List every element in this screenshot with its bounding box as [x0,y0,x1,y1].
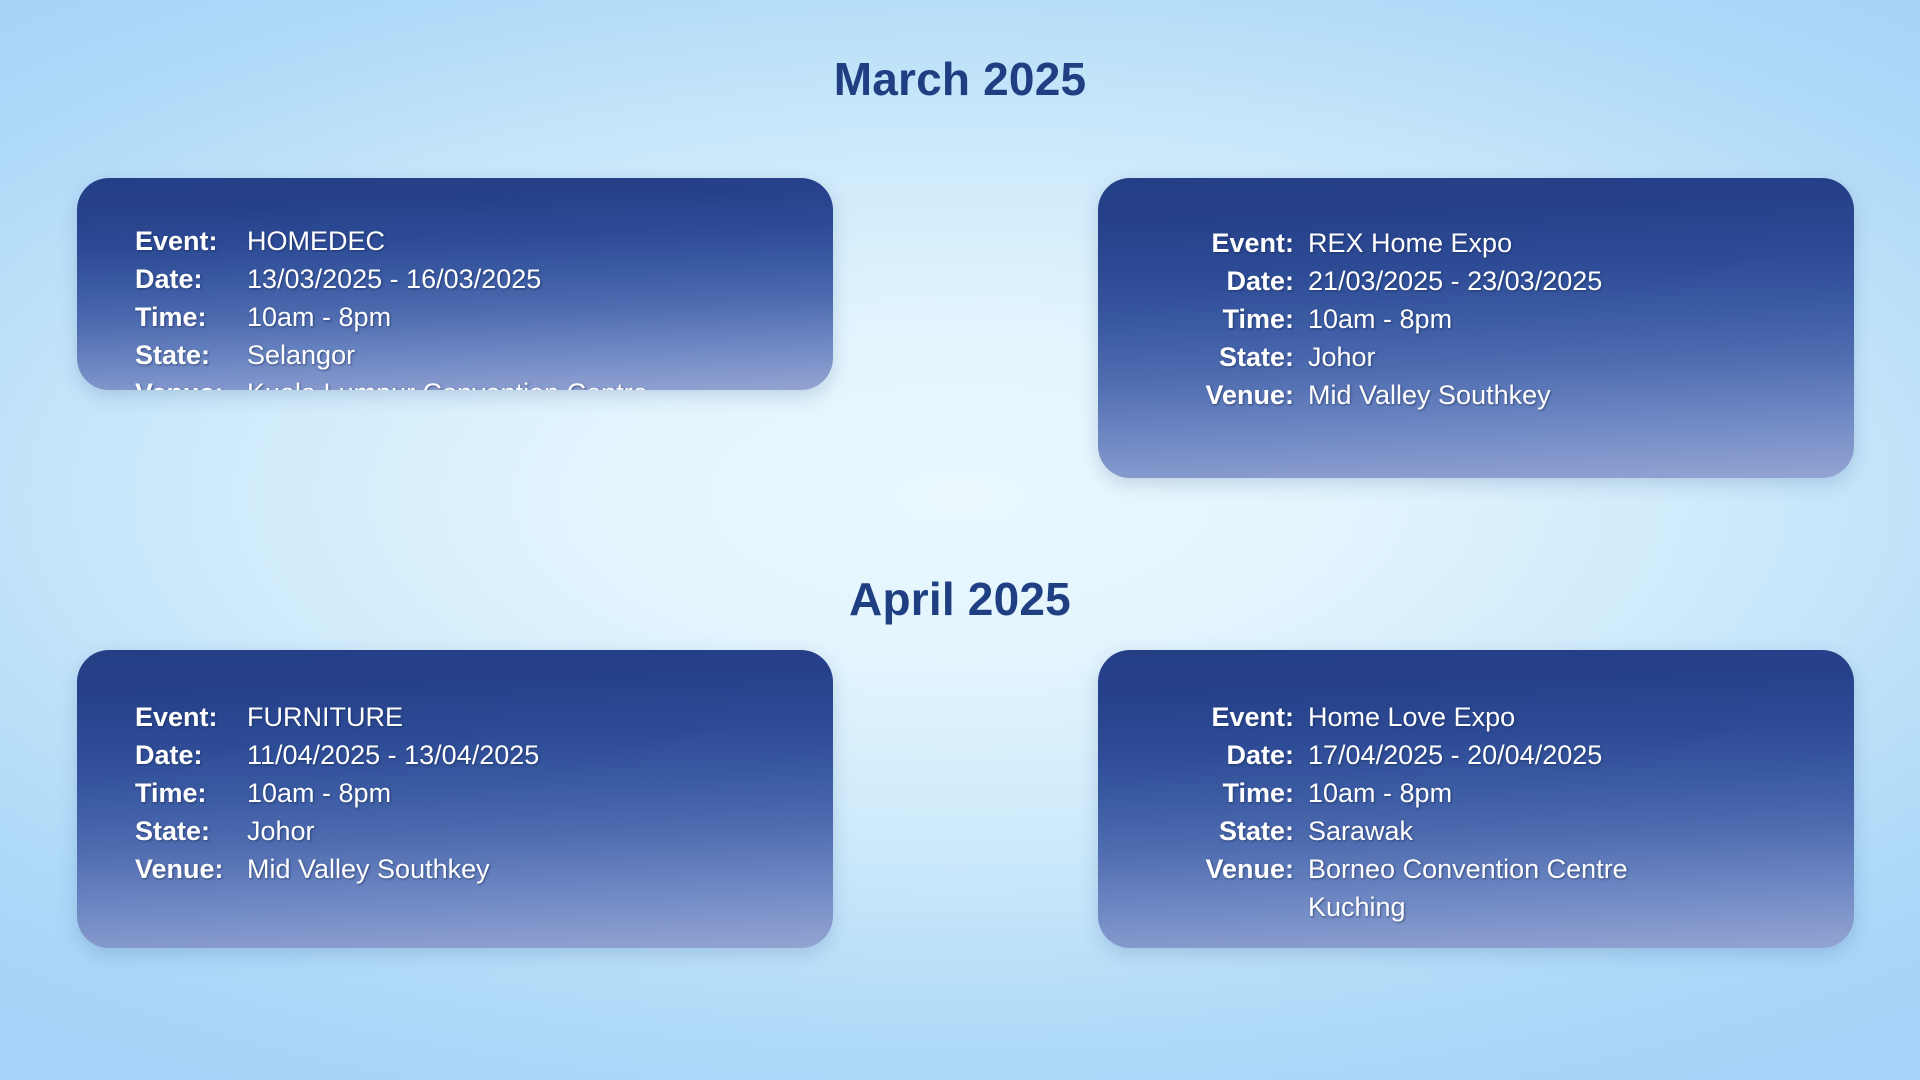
time-label: Time: [135,774,247,812]
event-value: Home Love Expo [1308,698,1515,736]
date-row: Date: 21/03/2025 - 23/03/2025 [1196,262,1602,300]
date-label: Date: [1196,262,1308,300]
state-label: State: [135,336,247,374]
venue-value: Borneo Convention Centre Kuching [1308,850,1628,926]
event-card-details: Event: Home Love Expo Date: 17/04/2025 -… [1196,698,1628,926]
venue-value: Mid Valley Southkey [1308,376,1551,414]
date-value: 11/04/2025 - 13/04/2025 [247,736,539,774]
venue-row: Venue: Borneo Convention Centre Kuching [1196,850,1628,926]
state-value: Selangor [247,336,355,374]
date-row: Date: 13/03/2025 - 16/03/2025 [135,260,648,298]
state-label: State: [135,812,247,850]
event-row: Event: FURNITURE [135,698,539,736]
event-row: Event: HOMEDEC [135,222,648,260]
date-row: Date: 11/04/2025 - 13/04/2025 [135,736,539,774]
event-row: Event: Home Love Expo [1196,698,1628,736]
venue-label: Venue: [1196,850,1308,888]
venue-value: Kuala Lumpur Convention Centre [247,374,648,390]
date-label: Date: [135,260,247,298]
date-label: Date: [1196,736,1308,774]
venue-label: Venue: [135,850,247,888]
month-heading-april: April 2025 [0,572,1920,626]
venue-row: Venue: Mid Valley Southkey [1196,376,1602,414]
time-label: Time: [1196,774,1308,812]
event-row: Event: REX Home Expo [1196,224,1602,262]
event-value: HOMEDEC [247,222,385,260]
event-label: Event: [135,222,247,260]
venue-value: Mid Valley Southkey [247,850,490,888]
event-label: Event: [135,698,247,736]
venue-row: Venue: Mid Valley Southkey [135,850,539,888]
event-card-details: Event: HOMEDEC Date: 13/03/2025 - 16/03/… [135,222,648,390]
state-label: State: [1196,812,1308,850]
event-card-furniture[interactable]: Event: FURNITURE Date: 11/04/2025 - 13/0… [77,650,833,948]
venue-label: Venue: [135,374,247,390]
time-value: 10am - 8pm [1308,774,1452,812]
time-value: 10am - 8pm [247,298,391,336]
venue-value-line1: Borneo Convention Centre [1308,850,1628,888]
event-card-rex-home-expo[interactable]: Event: REX Home Expo Date: 21/03/2025 - … [1098,178,1854,478]
state-row: State: Johor [135,812,539,850]
time-label: Time: [1196,300,1308,338]
time-row: Time: 10am - 8pm [135,298,648,336]
venue-label: Venue: [1196,376,1308,414]
state-row: State: Johor [1196,338,1602,376]
state-value: Johor [247,812,315,850]
state-label: State: [1196,338,1308,376]
time-row: Time: 10am - 8pm [135,774,539,812]
state-value: Sarawak [1308,812,1413,850]
date-value: 21/03/2025 - 23/03/2025 [1308,262,1602,300]
event-listing-page: March 2025 Event: HOMEDEC Date: 13/03/20… [0,0,1920,1080]
time-value: 10am - 8pm [247,774,391,812]
state-value: Johor [1308,338,1376,376]
state-row: State: Sarawak [1196,812,1628,850]
state-row: State: Selangor [135,336,648,374]
time-row: Time: 10am - 8pm [1196,774,1628,812]
event-label: Event: [1196,698,1308,736]
date-row: Date: 17/04/2025 - 20/04/2025 [1196,736,1628,774]
event-card-details: Event: REX Home Expo Date: 21/03/2025 - … [1196,224,1602,414]
time-row: Time: 10am - 8pm [1196,300,1602,338]
event-card-details: Event: FURNITURE Date: 11/04/2025 - 13/0… [135,698,539,888]
event-label: Event: [1196,224,1308,262]
event-value: FURNITURE [247,698,403,736]
time-label: Time: [135,298,247,336]
venue-row: Venue: Kuala Lumpur Convention Centre [135,374,648,390]
event-card-homedec[interactable]: Event: HOMEDEC Date: 13/03/2025 - 16/03/… [77,178,833,390]
time-value: 10am - 8pm [1308,300,1452,338]
date-label: Date: [135,736,247,774]
event-card-home-love-expo[interactable]: Event: Home Love Expo Date: 17/04/2025 -… [1098,650,1854,948]
month-heading-march: March 2025 [0,52,1920,106]
venue-value-line2: Kuching [1308,888,1628,926]
event-value: REX Home Expo [1308,224,1512,262]
date-value: 17/04/2025 - 20/04/2025 [1308,736,1602,774]
date-value: 13/03/2025 - 16/03/2025 [247,260,541,298]
